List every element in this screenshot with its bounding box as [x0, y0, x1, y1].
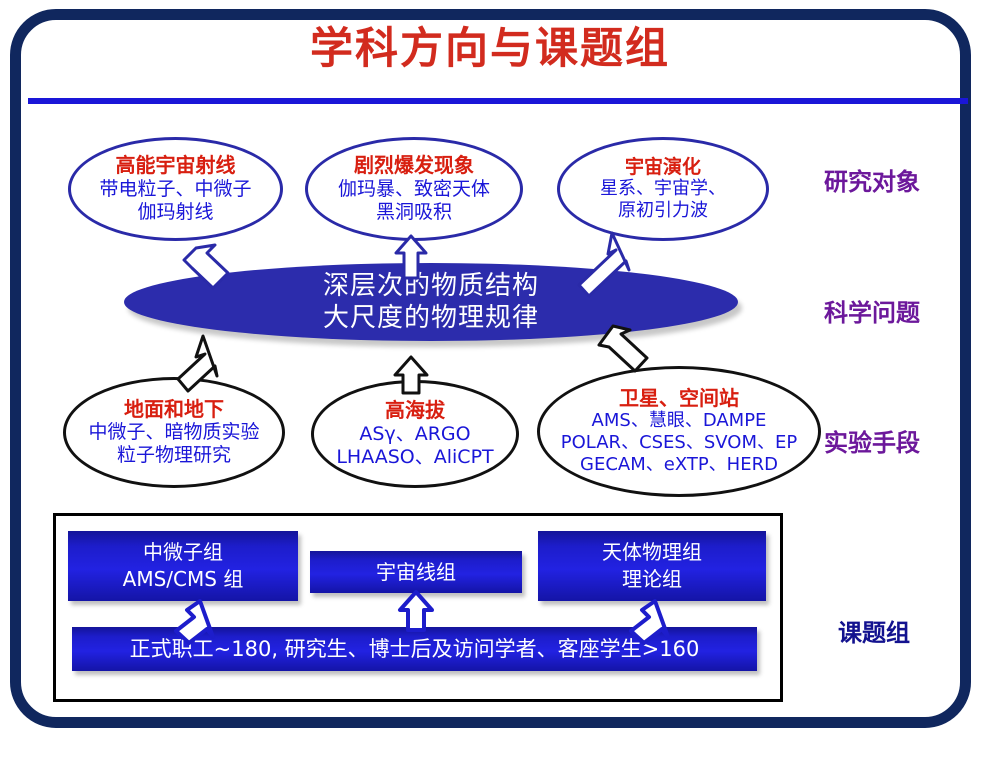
- ellipse-line: 星系、宇宙学、: [600, 178, 726, 200]
- box-line: AMS/CMS 组: [123, 566, 244, 593]
- ellipse-heading: 宇宙演化: [625, 156, 701, 178]
- ellipse-high-altitude[interactable]: 高海拔 ASγ、ARGO LHAASO、AliCPT: [311, 380, 519, 488]
- ellipse-line: 黑洞吸积: [376, 201, 452, 224]
- ellipse-violent-bursts[interactable]: 剧烈爆发现象 伽玛暴、致密天体 黑洞吸积: [305, 137, 523, 241]
- ellipse-heading: 高海拔: [385, 399, 445, 423]
- ellipse-line: 粒子物理研究: [117, 444, 231, 467]
- box-staff-summary[interactable]: 正式职工~180, 研究生、博士后及访问学者、客座学生>160: [72, 627, 757, 671]
- ellipse-line: 原初引力波: [618, 200, 708, 222]
- ellipse-satellite-space-station[interactable]: 卫星、空间站 AMS、慧眼、DAMPE POLAR、CSES、SVOM、EP G…: [537, 366, 821, 497]
- box-line: 宇宙线组: [376, 559, 456, 586]
- row-label-science-question: 科学问题: [824, 293, 920, 328]
- science-question-line: 大尺度的物理规律: [323, 302, 539, 335]
- ellipse-line: GECAM、eXTP、HERD: [580, 454, 778, 476]
- page-title: 学科方向与课题组: [30, 27, 950, 72]
- slide-canvas: 学科方向与课题组 高能宇宙射线 带电粒子、中微子 伽玛射线 剧烈爆发现象 伽玛暴…: [0, 0, 999, 759]
- ellipse-line: POLAR、CSES、SVOM、EP: [561, 432, 797, 454]
- ellipse-line: AMS、慧眼、DAMPE: [592, 410, 767, 432]
- ellipse-line: 伽玛射线: [137, 201, 213, 224]
- ellipse-cosmic-rays[interactable]: 高能宇宙射线 带电粒子、中微子 伽玛射线: [68, 137, 283, 241]
- ellipse-heading: 卫星、空间站: [619, 387, 739, 411]
- box-line: 理论组: [622, 566, 682, 593]
- box-cosmic-ray-group[interactable]: 宇宙线组: [310, 551, 522, 593]
- ellipse-line: ASγ、ARGO: [359, 423, 470, 446]
- ellipse-science-question[interactable]: 深层次的物质结构 大尺度的物理规律: [124, 263, 738, 341]
- ellipse-line: 中微子、暗物质实验: [88, 421, 259, 444]
- row-label-research-objects: 研究对象: [824, 162, 920, 197]
- ellipse-cosmic-evolution[interactable]: 宇宙演化 星系、宇宙学、 原初引力波: [557, 137, 769, 241]
- ellipse-line: 伽玛暴、致密天体: [338, 178, 490, 201]
- box-line: 中微子组: [143, 539, 223, 566]
- title-divider: [28, 98, 968, 104]
- box-astrophysics-group[interactable]: 天体物理组 理论组: [538, 531, 766, 601]
- ellipse-heading: 剧烈爆发现象: [354, 154, 474, 178]
- ellipse-heading: 地面和地下: [124, 398, 224, 422]
- row-label-research-groups: 课题组: [838, 613, 910, 648]
- row-label-experimental-means: 实验手段: [824, 423, 920, 458]
- ellipse-line: LHAASO、AliCPT: [336, 446, 493, 469]
- box-line: 正式职工~180, 研究生、博士后及访问学者、客座学生>160: [130, 635, 700, 663]
- ellipse-ground-underground[interactable]: 地面和地下 中微子、暗物质实验 粒子物理研究: [63, 377, 285, 488]
- box-neutrino-group[interactable]: 中微子组 AMS/CMS 组: [68, 531, 298, 601]
- ellipse-heading: 高能宇宙射线: [116, 154, 236, 178]
- science-question-line: 深层次的物质结构: [323, 270, 539, 303]
- ellipse-line: 带电粒子、中微子: [99, 178, 251, 201]
- box-line: 天体物理组: [602, 539, 702, 566]
